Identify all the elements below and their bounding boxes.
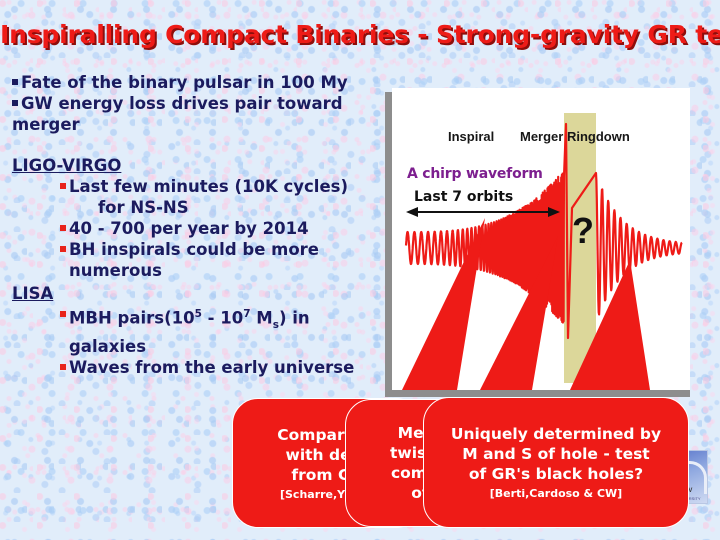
bullet-text-wrap: merger (12, 114, 392, 135)
bullet-list: Fate of the binary pulsar in 100 My GW e… (12, 72, 392, 378)
callout-citation: [Berti,Cardoso & CW] (490, 486, 622, 501)
slide-canvas: Inspiralling Compact Binaries - Strong-g… (0, 0, 720, 540)
bullet-item: Fate of the binary pulsar in 100 My (12, 72, 392, 93)
square-bullet-icon (12, 79, 18, 85)
bullet-item: GW energy loss drives pair toward (12, 93, 392, 114)
square-bullet-icon (60, 183, 66, 189)
square-bullet-icon (60, 225, 66, 231)
section-heading-lisa: LISA (12, 283, 392, 304)
waveform-chart-panel: Inspiral Merger Ringdown ? A chirp wavef… (392, 88, 690, 390)
sub-bullet-continuation: for NS-NS (98, 197, 392, 218)
sub-bullet-text: BH inspirals could be more numerous (69, 239, 392, 281)
square-bullet-icon (60, 246, 66, 252)
sub-bullet-item: Last few minutes (10K cycles) (60, 176, 392, 197)
sub-bullet-text-mbh: MBH pairs(105 - 107 Ms) in galaxies (69, 304, 392, 357)
section-heading-ligo-virgo: LIGO-VIRGO (12, 155, 392, 176)
sub-bullet-text: Last few minutes (10K cycles) (69, 176, 348, 197)
callout-line: of GR's black holes? (469, 464, 643, 484)
bullet-text: GW energy loss drives pair toward (21, 93, 343, 114)
slide-title: Inspiralling Compact Binaries - Strong-g… (0, 20, 720, 49)
square-bullet-icon (12, 100, 18, 106)
spacer (12, 135, 392, 153)
callout-uniquely-determined[interactable]: Uniquely determined by M and S of hole -… (423, 397, 689, 528)
sub-bullet-item: 40 - 700 per year by 2014 (60, 218, 392, 239)
callout-line: M and S of hole - test (462, 444, 649, 464)
callout-line: Uniquely determined by (451, 424, 661, 444)
sub-bullet-item: BH inspirals could be more numerous (60, 239, 392, 281)
callout-tail-triangles (392, 88, 690, 390)
bullet-text: Fate of the binary pulsar in 100 My (21, 72, 348, 93)
sub-bullet-item: Waves from the early universe (60, 357, 392, 378)
sub-bullet-text: 40 - 700 per year by 2014 (69, 218, 309, 239)
square-bullet-icon (60, 311, 66, 317)
sub-bullet-text: Waves from the early universe (69, 357, 354, 378)
sub-bullet-item: MBH pairs(105 - 107 Ms) in galaxies (60, 304, 392, 357)
square-bullet-icon (60, 364, 66, 370)
